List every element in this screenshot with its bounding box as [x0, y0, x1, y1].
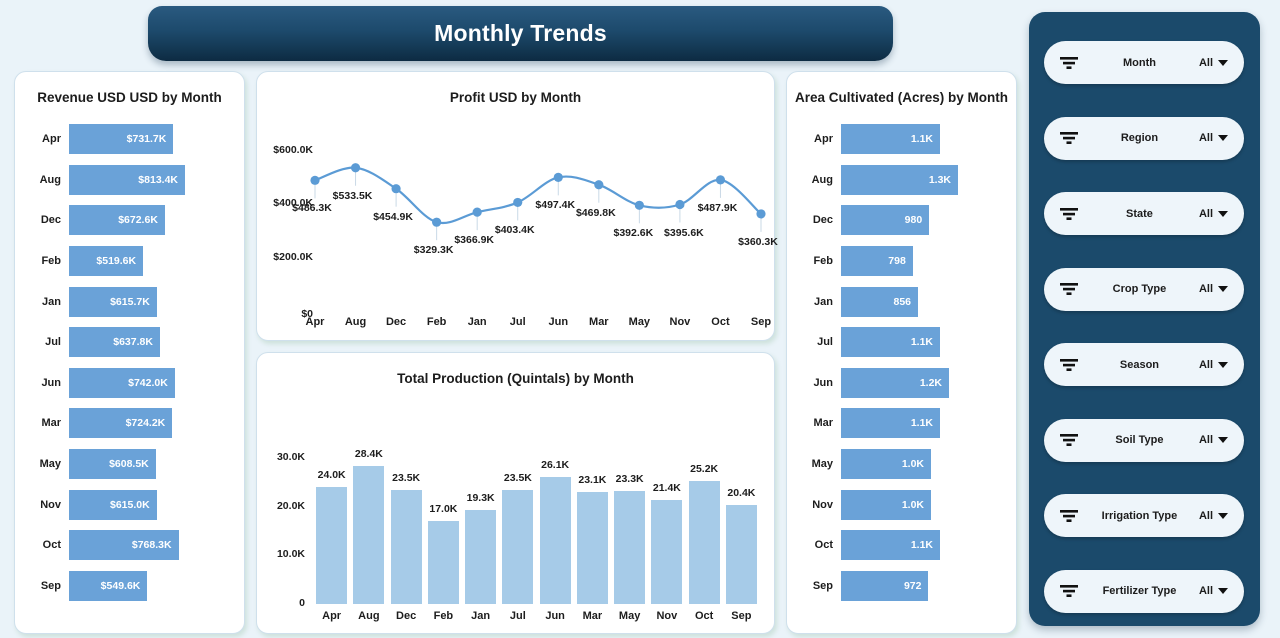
line-data-point[interactable]: [756, 209, 765, 218]
bar-fill[interactable]: $549.6K: [69, 571, 147, 601]
bar-value-label: 28.4K: [346, 448, 392, 460]
x-axis-tick: Mar: [579, 316, 619, 328]
bar-track: $672.6K: [69, 200, 230, 241]
line-point-value-label: $469.8K: [564, 207, 628, 219]
bar-row: Jul$637.8K: [23, 322, 230, 363]
line-point-value-label: $533.5K: [321, 190, 385, 202]
y-axis-tick: 30.0K: [257, 451, 305, 463]
bar-track: $742.0K: [69, 363, 230, 404]
profit-chart-title: Profit USD by Month: [257, 72, 774, 105]
dashboard-header-banner: Monthly Trends: [148, 6, 893, 61]
y-axis-tick: 10.0K: [257, 548, 305, 560]
bar-track: 980: [841, 200, 1002, 241]
line-point-value-label: $395.6K: [652, 227, 716, 239]
bar-column[interactable]: [428, 521, 459, 604]
bar-value-label: 19.3K: [458, 492, 504, 504]
dashboard-root: Monthly Trends Revenue USD USD by Month …: [0, 0, 1280, 638]
bar-track: $731.7K: [69, 119, 230, 160]
bar-track: 1.1K: [841, 322, 1002, 363]
bar-track: $637.8K: [69, 322, 230, 363]
x-axis-tick: May: [619, 316, 659, 328]
filter-label: Irrigation Type: [1080, 510, 1199, 522]
profit-line-plot: $0$200.0K$400.0K$600.0K$486.3K$533.5K$45…: [257, 105, 776, 341]
bar-category-label: Sep: [23, 580, 69, 592]
bar-category-label: Jul: [795, 336, 841, 348]
bar-track: 1.0K: [841, 444, 1002, 485]
filter-label: Region: [1080, 132, 1199, 144]
bar-value-label: 798: [888, 255, 906, 267]
x-axis-tick: Sep: [741, 316, 781, 328]
bar-row: Sep972: [795, 566, 1002, 607]
bar-fill[interactable]: 798: [841, 246, 913, 276]
line-point-value-label: $454.9K: [361, 211, 425, 223]
bar-value-label: 23.5K: [495, 472, 541, 484]
bar-column[interactable]: [651, 500, 682, 604]
bar-category-label: Feb: [23, 255, 69, 267]
bar-column[interactable]: [391, 490, 422, 604]
filter-value-text: All: [1199, 57, 1213, 69]
x-axis-tick: Apr: [295, 316, 335, 328]
bar-column[interactable]: [465, 510, 496, 604]
filter-value-text: All: [1199, 208, 1213, 220]
filter-label: Fertilizer Type: [1080, 585, 1199, 597]
bar-category-label: Aug: [795, 174, 841, 186]
line-data-point[interactable]: [351, 163, 360, 172]
bar-category-label: Jul: [23, 336, 69, 348]
bar-track: $519.6K: [69, 241, 230, 282]
x-axis-tick: Sep: [718, 610, 764, 622]
line-point-value-label: $487.9K: [685, 202, 749, 214]
filter-selected-value[interactable]: All: [1199, 283, 1228, 295]
area-chart-card: Area Cultivated (Acres) by Month Apr1.1K…: [786, 71, 1017, 634]
bar-fill[interactable]: 1.1K: [841, 327, 940, 357]
filter-value-text: All: [1199, 510, 1213, 522]
filter-state[interactable]: StateAll: [1044, 192, 1244, 235]
x-axis-tick: Oct: [700, 316, 740, 328]
filter-value-text: All: [1199, 434, 1213, 446]
bar-category-label: Oct: [795, 539, 841, 551]
line-data-point[interactable]: [513, 198, 522, 207]
filter-value-text: All: [1199, 359, 1213, 371]
bar-value-label: 17.0K: [420, 503, 466, 515]
line-data-point[interactable]: [675, 200, 684, 209]
bar-column[interactable]: [502, 490, 533, 604]
bar-column[interactable]: [353, 466, 384, 604]
line-data-point[interactable]: [716, 175, 725, 184]
chevron-down-icon[interactable]: [1218, 135, 1228, 141]
bar-track: 1.1K: [841, 119, 1002, 160]
bar-category-label: Jun: [23, 377, 69, 389]
chevron-down-icon[interactable]: [1218, 362, 1228, 368]
bar-fill[interactable]: 980: [841, 205, 929, 235]
bar-fill[interactable]: $768.3K: [69, 530, 179, 560]
bar-category-label: Apr: [23, 133, 69, 145]
bar-track: $549.6K: [69, 566, 230, 607]
bar-column[interactable]: [726, 505, 757, 604]
filter-value-text: All: [1199, 283, 1213, 295]
x-axis-tick: Dec: [376, 316, 416, 328]
bar-value-label: $615.7K: [110, 296, 150, 308]
filter-label: Crop Type: [1080, 283, 1199, 295]
bar-track: $615.7K: [69, 281, 230, 322]
bar-value-label: $768.3K: [132, 539, 172, 551]
bar-category-label: Dec: [795, 214, 841, 226]
line-data-point[interactable]: [391, 184, 400, 193]
bar-row: Feb$519.6K: [23, 241, 230, 282]
bar-category-label: Dec: [23, 214, 69, 226]
bar-value-label: $637.8K: [113, 336, 153, 348]
bar-fill[interactable]: $608.5K: [69, 449, 156, 479]
filter-crop-type[interactable]: Crop TypeAll: [1044, 268, 1244, 311]
bar-row: Dec$672.6K: [23, 200, 230, 241]
bar-row: Mar1.1K: [795, 403, 1002, 444]
bar-value-label: 24.0K: [309, 469, 355, 481]
bar-category-label: Jan: [23, 296, 69, 308]
bar-row: Apr1.1K: [795, 119, 1002, 160]
filter-label: Season: [1080, 359, 1199, 371]
filter-fertilizer-type[interactable]: Fertilizer TypeAll: [1044, 570, 1244, 613]
bar-row: May$608.5K: [23, 444, 230, 485]
y-axis-tick: 0: [257, 597, 305, 609]
bar-column[interactable]: [577, 492, 608, 604]
line-data-point[interactable]: [473, 208, 482, 217]
bar-fill[interactable]: $742.0K: [69, 368, 175, 398]
bar-fill[interactable]: 1.1K: [841, 530, 940, 560]
line-point-value-label: $486.3K: [280, 202, 344, 214]
filter-label: Soil Type: [1080, 434, 1199, 446]
bar-category-label: Oct: [23, 539, 69, 551]
bar-fill[interactable]: 1.0K: [841, 449, 931, 479]
line-point-value-label: $360.3K: [726, 236, 790, 248]
bar-category-label: Aug: [23, 174, 69, 186]
bar-row: Feb798: [795, 241, 1002, 282]
bar-value-label: 23.5K: [383, 472, 429, 484]
bar-value-label: $549.6K: [101, 580, 141, 592]
bar-value-label: 1.1K: [911, 417, 933, 429]
filter-value-text: All: [1199, 585, 1213, 597]
line-data-point[interactable]: [310, 176, 319, 185]
bar-row: Jan$615.7K: [23, 281, 230, 322]
filter-month[interactable]: MonthAll: [1044, 41, 1244, 84]
chevron-down-icon[interactable]: [1218, 286, 1228, 292]
bar-value-label: 21.4K: [644, 482, 690, 494]
x-axis-tick: Feb: [417, 316, 457, 328]
bar-track: $608.5K: [69, 444, 230, 485]
bar-row: Nov1.0K: [795, 484, 1002, 525]
bar-fill[interactable]: 1.2K: [841, 368, 949, 398]
page-title: Monthly Trends: [434, 20, 607, 47]
bar-fill[interactable]: $813.4K: [69, 165, 185, 195]
area-chart-title: Area Cultivated (Acres) by Month: [787, 72, 1016, 105]
bar-fill[interactable]: 1.1K: [841, 408, 940, 438]
production-chart-card: Total Production (Quintals) by Month 010…: [256, 352, 775, 634]
bar-track: $768.3K: [69, 525, 230, 566]
bar-track: 1.2K: [841, 363, 1002, 404]
bar-value-label: 26.1K: [532, 459, 578, 471]
bar-fill[interactable]: 1.1K: [841, 124, 940, 154]
line-data-point[interactable]: [594, 180, 603, 189]
y-axis-tick: $600.0K: [257, 144, 313, 156]
bar-value-label: 20.4K: [718, 487, 764, 499]
bar-column[interactable]: [689, 481, 720, 604]
chevron-down-icon[interactable]: [1218, 211, 1228, 217]
bar-row: Jul1.1K: [795, 322, 1002, 363]
bar-value-label: 1.1K: [911, 133, 933, 145]
bar-track: 1.3K: [841, 160, 1002, 201]
filter-selected-value[interactable]: All: [1199, 132, 1228, 144]
line-data-point[interactable]: [554, 173, 563, 182]
bar-row: Jun$742.0K: [23, 363, 230, 404]
bar-row: Jun1.2K: [795, 363, 1002, 404]
bar-category-label: Apr: [795, 133, 841, 145]
bar-category-label: Feb: [795, 255, 841, 267]
bar-value-label: $742.0K: [128, 377, 168, 389]
bar-category-label: Jun: [795, 377, 841, 389]
bar-fill[interactable]: $637.8K: [69, 327, 160, 357]
bar-track: 972: [841, 566, 1002, 607]
bar-value-label: $731.7K: [127, 133, 167, 145]
bar-track: $813.4K: [69, 160, 230, 201]
bar-column[interactable]: [614, 491, 645, 604]
line-data-point[interactable]: [432, 218, 441, 227]
profit-chart-card: Profit USD by Month $0$200.0K$400.0K$600…: [256, 71, 775, 341]
bar-row: Oct$768.3K: [23, 525, 230, 566]
bar-value-label: 1.2K: [920, 377, 942, 389]
x-axis-tick: Aug: [336, 316, 376, 328]
bar-category-label: Nov: [23, 499, 69, 511]
filter-selected-value[interactable]: All: [1199, 208, 1228, 220]
filter-selected-value[interactable]: All: [1199, 359, 1228, 371]
bar-value-label: 980: [905, 214, 923, 226]
profit-line-svg: [257, 105, 776, 341]
chevron-down-icon[interactable]: [1218, 437, 1228, 443]
production-chart-title: Total Production (Quintals) by Month: [257, 353, 774, 386]
filter-selected-value[interactable]: All: [1199, 57, 1228, 69]
x-axis-tick: Jan: [457, 316, 497, 328]
bar-fill[interactable]: $724.2K: [69, 408, 172, 438]
x-axis-tick: Jun: [538, 316, 578, 328]
filter-panel: MonthAllRegionAllStateAllCrop TypeAllSea…: [1029, 12, 1260, 626]
bar-row: Dec980: [795, 200, 1002, 241]
x-axis-tick: Jul: [498, 316, 538, 328]
bar-track: 798: [841, 241, 1002, 282]
filter-value-text: All: [1199, 132, 1213, 144]
revenue-chart-title: Revenue USD USD by Month: [15, 72, 244, 105]
bar-value-label: 856: [894, 296, 912, 308]
filter-label: Month: [1080, 57, 1199, 69]
bar-column[interactable]: [540, 477, 571, 604]
filter-selected-value[interactable]: All: [1199, 585, 1228, 597]
filter-selected-value[interactable]: All: [1199, 434, 1228, 446]
bar-value-label: $672.6K: [118, 214, 158, 226]
bar-track: $615.0K: [69, 484, 230, 525]
bar-fill[interactable]: 972: [841, 571, 928, 601]
bar-fill[interactable]: $519.6K: [69, 246, 143, 276]
bar-track: 1.1K: [841, 403, 1002, 444]
bar-category-label: May: [23, 458, 69, 470]
filter-selected-value[interactable]: All: [1199, 510, 1228, 522]
bar-track: 1.1K: [841, 525, 1002, 566]
line-point-value-label: $403.4K: [483, 224, 547, 236]
bar-value-label: 1.0K: [902, 458, 924, 470]
bar-track: 856: [841, 281, 1002, 322]
bar-value-label: 1.1K: [911, 336, 933, 348]
bar-fill[interactable]: $615.0K: [69, 490, 157, 520]
filter-soil-type[interactable]: Soil TypeAll: [1044, 419, 1244, 462]
bar-value-label: 25.2K: [681, 463, 727, 475]
bar-fill[interactable]: 1.3K: [841, 165, 958, 195]
bar-category-label: May: [795, 458, 841, 470]
chevron-down-icon[interactable]: [1218, 60, 1228, 66]
bar-fill[interactable]: 856: [841, 287, 918, 317]
bar-row: Apr$731.7K: [23, 119, 230, 160]
bar-row: May1.0K: [795, 444, 1002, 485]
bar-category-label: Mar: [23, 417, 69, 429]
bar-fill[interactable]: $672.6K: [69, 205, 165, 235]
bar-track: $724.2K: [69, 403, 230, 444]
y-axis-tick: $200.0K: [257, 251, 313, 263]
bar-fill[interactable]: 1.0K: [841, 490, 931, 520]
bar-value-label: $615.0K: [110, 499, 150, 511]
filter-label: State: [1080, 208, 1199, 220]
bar-value-label: $519.6K: [96, 255, 136, 267]
revenue-chart-card: Revenue USD USD by Month Apr$731.7KAug$8…: [14, 71, 245, 634]
bar-category-label: Mar: [795, 417, 841, 429]
chevron-down-icon[interactable]: [1218, 588, 1228, 594]
bar-value-label: $608.5K: [109, 458, 149, 470]
filter-season[interactable]: SeasonAll: [1044, 343, 1244, 386]
bar-row: Aug$813.4K: [23, 160, 230, 201]
bar-fill[interactable]: $615.7K: [69, 287, 157, 317]
line-data-point[interactable]: [635, 201, 644, 210]
bar-row: Aug1.3K: [795, 160, 1002, 201]
bar-category-label: Nov: [795, 499, 841, 511]
bar-category-label: Sep: [795, 580, 841, 592]
y-axis-tick: 20.0K: [257, 500, 305, 512]
filter-irrigation-type[interactable]: Irrigation TypeAll: [1044, 494, 1244, 537]
bar-value-label: $813.4K: [138, 174, 178, 186]
bar-value-label: 972: [904, 580, 922, 592]
bar-row: Oct1.1K: [795, 525, 1002, 566]
revenue-bar-list: Apr$731.7KAug$813.4KDec$672.6KFeb$519.6K…: [15, 105, 244, 606]
x-axis-tick: Nov: [660, 316, 700, 328]
bar-row: Sep$549.6K: [23, 566, 230, 607]
production-bar-plot: 010.0K20.0K30.0K24.0KApr28.4KAug23.5KDec…: [257, 386, 776, 634]
bar-track: 1.0K: [841, 484, 1002, 525]
bar-row: Nov$615.0K: [23, 484, 230, 525]
bar-value-label: 1.3K: [929, 174, 951, 186]
bar-value-label: 1.0K: [902, 499, 924, 511]
bar-row: Mar$724.2K: [23, 403, 230, 444]
bar-category-label: Jan: [795, 296, 841, 308]
bar-value-label: 1.1K: [911, 539, 933, 551]
filter-region[interactable]: RegionAll: [1044, 117, 1244, 160]
bar-fill[interactable]: $731.7K: [69, 124, 173, 154]
chevron-down-icon[interactable]: [1218, 513, 1228, 519]
bar-column[interactable]: [316, 487, 347, 604]
bar-row: Jan856: [795, 281, 1002, 322]
bar-value-label: $724.2K: [126, 417, 166, 429]
area-bar-list: Apr1.1KAug1.3KDec980Feb798Jan856Jul1.1KJ…: [787, 105, 1016, 606]
